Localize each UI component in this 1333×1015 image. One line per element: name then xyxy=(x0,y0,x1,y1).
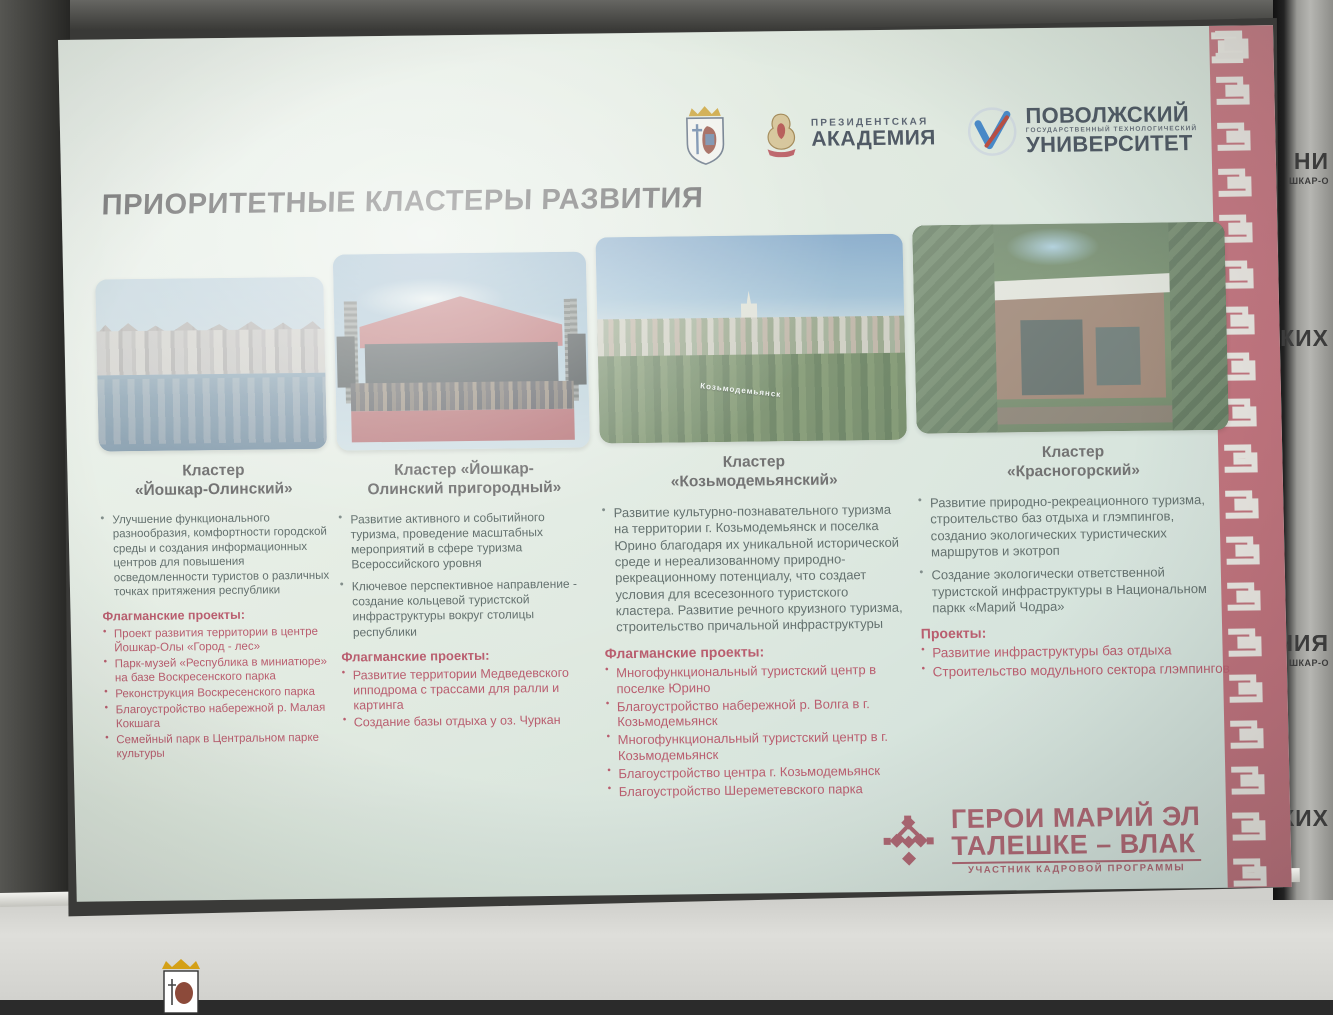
wall-text-fragment-5: ШКАР-О xyxy=(1289,658,1329,668)
list-item: Развитие территории Медведевского ипподр… xyxy=(342,665,596,714)
list-item: Ключевое перспективное направление - соз… xyxy=(340,577,595,641)
presidential-academy-logo: ПРЕЗИДЕНТСКАЯ АКАДЕМИЯ xyxy=(759,109,937,157)
list-item: Благоустройство набережной р. Малая Кокш… xyxy=(104,700,332,731)
list-item: Благоустройство Шереметевского парка xyxy=(608,780,915,800)
projects-heading: Флагманские проекты: xyxy=(102,606,330,623)
heroes-mari-el-logo: ГЕРОИ МАРИЙ ЭЛ ТАЛЕШКЕ – ВЛАК УЧАСТНИК К… xyxy=(877,803,1202,876)
mari-diamond-ornament-icon xyxy=(877,810,940,873)
list-item: Развитие инфраструктуры баз отдыха xyxy=(921,642,1234,662)
mari-el-coat-of-arms-icon xyxy=(150,955,212,1015)
presentation-slide-wrapper: ПРЕЗИДЕНТСКАЯ АКАДЕМИЯ ПОВОЛЖСКИЙ ГОСУДА… xyxy=(58,25,1292,908)
list-item: Благоустройство набережной р. Волга в г.… xyxy=(606,695,913,730)
wall-text-fragment-3: КИХ xyxy=(1280,325,1329,352)
clusters-columns: Кластер «Йошкар-Олинский» Улучшение функ… xyxy=(94,222,1238,876)
projects-heading: Флагманские проекты: xyxy=(341,646,595,664)
wall-text-fragment-1: НИ xyxy=(1294,148,1329,175)
cluster-projects-list: Развитие инфраструктуры баз отдыха Строи… xyxy=(921,642,1234,681)
cluster-projects-list: Многофункциональный туристский центр в п… xyxy=(605,661,914,800)
projects-heading: Флагманские проекты: xyxy=(605,641,912,661)
list-item: Развитие активного и событийного туризма… xyxy=(338,509,593,573)
list-item: Проект развития территории в центре Йошк… xyxy=(103,624,331,655)
list-item: Создание базы отдыха у оз. Чуркан xyxy=(343,713,597,731)
projects-heading: Проекты: xyxy=(921,622,1234,642)
presentation-slide: ПРЕЗИДЕНТСКАЯ АКАДЕМИЯ ПОВОЛЖСКИЙ ГОСУДА… xyxy=(58,25,1292,902)
university-logo-line3: УНИВЕРСИТЕТ xyxy=(1026,132,1198,157)
list-item: Парк-музей «Республика в миниатюре» на б… xyxy=(103,654,331,685)
cluster-photo-prigorodnyy xyxy=(333,252,591,451)
cluster-bullet-list: Улучшение функционального разнообразия, … xyxy=(100,511,330,601)
slide-title: ПРИОРИТЕТНЫЕ КЛАСТЕРЫ РАЗВИТИЯ xyxy=(101,182,704,222)
list-item: Благоустройство центра г. Козьмодемьянск xyxy=(607,763,914,783)
list-item: Создание экологически ответственной тури… xyxy=(919,564,1232,617)
list-item: Многофункциональный туристский центр в г… xyxy=(606,729,913,764)
cluster-photo-kozmodemyanskiy: Козьмодемьянск xyxy=(596,234,907,444)
cluster-bullet-list: Развитие активного и событийного туризма… xyxy=(338,509,594,640)
list-item: Многофункциональный туристский центр в п… xyxy=(605,661,912,696)
list-item: Развитие природно-рекреационного туризма… xyxy=(918,492,1232,561)
cluster-heading-prigorodnyy: Кластер «Йошкар- Олинский пригородный» xyxy=(337,460,591,501)
academy-logo-line2: АКАДЕМИЯ xyxy=(811,127,936,150)
cluster-column-yoshkar-olinskiy: Кластер «Йошкар-Олинский» Улучшение функ… xyxy=(94,233,336,876)
cluster-bullet-list: Развитие природно-рекреационного туризма… xyxy=(918,492,1233,617)
list-item: Семейный парк в Центральном парке культу… xyxy=(105,730,333,761)
cluster-photo-krasnogorskiy xyxy=(912,222,1229,434)
university-mark-icon xyxy=(965,105,1018,158)
list-item: Строительство модульного сектора глэмпин… xyxy=(921,661,1234,681)
cluster-projects-list: Развитие территории Медведевского ипподр… xyxy=(342,665,597,731)
cluster-column-krasnogorskiy: Кластер «Красногорский» Развитие природн… xyxy=(912,222,1238,866)
cluster-heading-line2: Олинский пригородный» xyxy=(338,478,592,500)
cluster-heading-line2: «Козьмодемьянский» xyxy=(601,471,908,494)
list-item: Реконструкция Воскресенского парка xyxy=(104,684,332,701)
cluster-column-kozmodemyanskiy: Козьмодемьянск Кластер «Козьмодемьянский… xyxy=(596,226,916,870)
academy-emblem-icon xyxy=(759,111,804,158)
university-logo-line1: ПОВОЛЖСКИЙ xyxy=(1025,103,1197,128)
slide-logo-row: ПРЕЗИДЕНТСКАЯ АКАДЕМИЯ ПОВОЛЖСКИЙ ГОСУДА… xyxy=(681,98,1198,166)
list-item: Улучшение функционального разнообразия, … xyxy=(100,511,330,601)
heroes-logo-line2: ТАЛЕШКЕ – ВЛАК xyxy=(951,830,1201,860)
wall-text-fragment-2: ШКАР-О xyxy=(1289,176,1329,186)
cluster-heading-line2: «Красногорский» xyxy=(917,461,1230,484)
cluster-projects-list: Проект развития территории в центре Йошк… xyxy=(103,624,334,761)
cluster-photo-yoshkar-olinskiy xyxy=(95,277,327,452)
cluster-heading-kozmodemyanskiy: Кластер «Козьмодемьянский» xyxy=(600,452,907,494)
volga-state-university-logo: ПОВОЛЖСКИЙ ГОСУДАРСТВЕННЫЙ ТЕХНОЛОГИЧЕСК… xyxy=(965,103,1198,158)
list-item: Развитие культурно-познавательного туриз… xyxy=(602,501,911,636)
cluster-heading-krasnogorskiy: Кластер «Красногорский» xyxy=(917,442,1230,484)
cluster-heading-yoshkar-olinskiy: Кластер «Йошкар-Олинский» xyxy=(99,461,328,502)
cluster-bullet-list: Развитие культурно-познавательного туриз… xyxy=(602,501,911,636)
cluster-column-yoshkar-olinskiy-prigorodnyy: Кластер «Йошкар- Олинский пригородный» Р… xyxy=(332,230,599,873)
cluster-heading-line2: «Йошкар-Олинский» xyxy=(100,480,328,502)
mari-el-coat-of-arms-icon xyxy=(681,104,730,167)
heroes-logo-line3: УЧАСТНИК КАДРОВОЙ ПРОГРАММЫ xyxy=(952,859,1202,876)
